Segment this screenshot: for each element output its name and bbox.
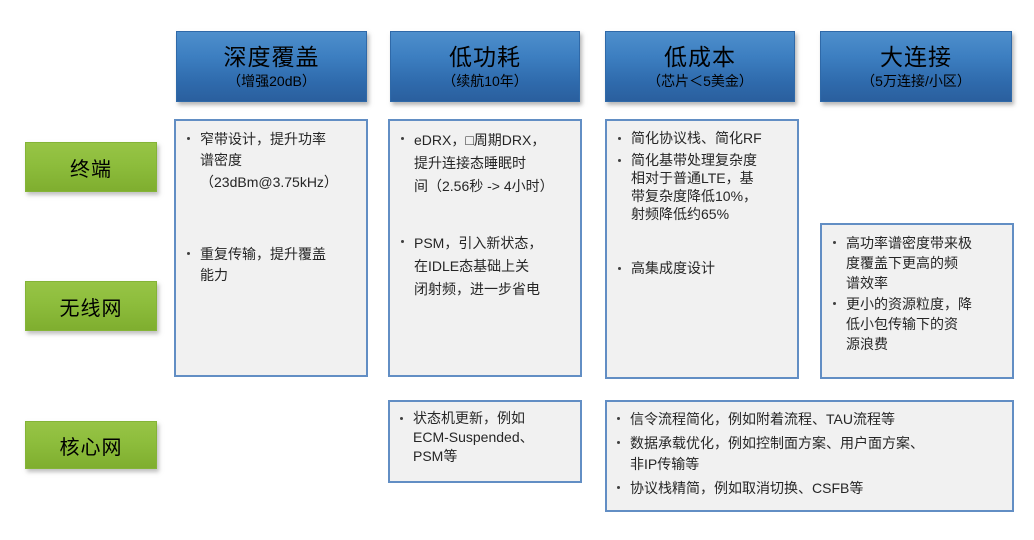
header-subtitle: （5万连接/小区） — [861, 72, 971, 90]
bullet-line: 提升连接态睡眠时 — [414, 155, 526, 171]
row-label-text: 终端 — [70, 153, 112, 182]
slide-canvas: 深度覆盖 （增强20dB） 低功耗 （续航10年） 低成本 （芯片＜5美金） 大… — [0, 0, 1034, 540]
list-item: 窄带设计，提升功率 谱密度 — [182, 129, 360, 171]
bullet-line: 更小的资源粒度，降 — [846, 296, 972, 312]
spacer — [613, 249, 791, 259]
content-box-deep-coverage: 窄带设计，提升功率 谱密度 （23dBm@3.75kHz） 重复传输，提升覆盖 … — [174, 119, 368, 377]
bullet-list: PSM，引入新状态， 在IDLE态基础上关 闭射频，进一步省电 — [396, 232, 574, 301]
header-card-massive-connection[interactable]: 大连接 （5万连接/小区） — [820, 31, 1012, 102]
bullet-line: 相对于普通LTE，基 — [631, 170, 754, 186]
header-title: 大连接 — [880, 44, 952, 71]
bullet-line: 高集成度设计 — [631, 260, 715, 276]
spacer — [182, 192, 360, 222]
spacer — [396, 222, 574, 232]
bullet-line: 重复传输，提升覆盖 — [200, 246, 326, 262]
list-item: 数据承载优化，例如控制面方案、用户面方案、 非IP传输等 — [612, 433, 1007, 475]
list-item: 简化基带处理复杂度 相对于普通LTE，基 带复杂度降低10%， 射频降低约65% — [613, 151, 791, 223]
bullet-line: 简化基带处理复杂度 — [631, 152, 757, 168]
list-item: 状态机更新，例如 ECM-Suspended、 PSM等 — [395, 409, 575, 466]
bullet-line: eDRX，□周期DRX， — [414, 132, 545, 148]
row-label-core-network[interactable]: 核心网 — [25, 421, 157, 469]
header-card-low-power[interactable]: 低功耗 （续航10年） — [390, 31, 580, 102]
spacer — [396, 200, 574, 222]
bullet-list: 窄带设计，提升功率 谱密度 — [182, 129, 360, 171]
bullet-line: 度覆盖下更高的频 — [846, 255, 958, 271]
bullet-list: 简化协议栈、简化RF 简化基带处理复杂度 相对于普通LTE，基 带复杂度降低10… — [613, 129, 791, 223]
bullet-line: 能力 — [200, 267, 228, 283]
bullet-line: 间（2.56秒 -> 4小时） — [414, 178, 554, 194]
list-item: 高集成度设计 — [613, 259, 791, 277]
list-item: 信令流程简化，例如附着流程、TAU流程等 — [612, 409, 1007, 430]
list-item: 更小的资源粒度，降 低小包传输下的资 源浪费 — [828, 294, 1006, 354]
header-title: 低成本 — [664, 44, 736, 71]
row-label-terminal[interactable]: 终端 — [25, 142, 157, 192]
header-card-low-cost[interactable]: 低成本 （芯片＜5美金） — [605, 31, 795, 102]
bullet-line: 低小包传输下的资 — [846, 316, 958, 332]
bullet-line: PSM，引入新状态， — [414, 235, 542, 251]
list-item: 高功率谱密度带来极 度覆盖下更高的频 谱效率 — [828, 233, 1006, 293]
bullet-line: 信令流程简化，例如附着流程、TAU流程等 — [630, 411, 895, 427]
list-item: 协议栈精简，例如取消切换、CSFB等 — [612, 478, 1007, 499]
header-card-deep-coverage[interactable]: 深度覆盖 （增强20dB） — [176, 31, 367, 102]
row-label-text: 无线网 — [60, 292, 123, 321]
bullet-line: 窄带设计，提升功率 — [200, 131, 326, 147]
header-subtitle: （芯片＜5美金） — [647, 72, 753, 90]
header-subtitle: （增强20dB） — [227, 72, 316, 90]
list-item: PSM，引入新状态， 在IDLE态基础上关 闭射频，进一步省电 — [396, 232, 574, 301]
bullet-line: 在IDLE态基础上关 — [414, 258, 529, 274]
bullet-line: 非IP传输等 — [630, 456, 699, 472]
bullet-line: 闭射频，进一步省电 — [414, 281, 540, 297]
bullet-list: 信令流程简化，例如附着流程、TAU流程等 数据承载优化，例如控制面方案、用户面方… — [612, 409, 1007, 499]
list-item: 重复传输，提升覆盖 能力 — [182, 244, 360, 286]
bullet-line: 协议栈精简，例如取消切换、CSFB等 — [630, 480, 863, 496]
bullet-line: 数据承载优化，例如控制面方案、用户面方案、 — [630, 435, 924, 451]
row-label-radio-network[interactable]: 无线网 — [25, 281, 157, 331]
list-item: 简化协议栈、简化RF — [613, 129, 791, 147]
bullet-line: PSM等 — [413, 448, 457, 464]
bullet-list: 状态机更新，例如 ECM-Suspended、 PSM等 — [395, 409, 575, 466]
content-box-low-cost: 简化协议栈、简化RF 简化基带处理复杂度 相对于普通LTE，基 带复杂度降低10… — [605, 119, 799, 379]
content-box-core-network: 信令流程简化，例如附着流程、TAU流程等 数据承载优化，例如控制面方案、用户面方… — [605, 400, 1014, 512]
bullet-list: 高功率谱密度带来极 度覆盖下更高的频 谱效率 更小的资源粒度，降 低小包传输下的… — [828, 233, 1006, 354]
bullet-list: 高集成度设计 — [613, 259, 791, 277]
bullet-line: 状态机更新，例如 — [413, 410, 525, 426]
list-item: eDRX，□周期DRX， 提升连接态睡眠时 间（2.56秒 -> 4小时） — [396, 129, 574, 198]
bullet-line: 带复杂度降低10%， — [631, 188, 757, 204]
header-title: 深度覆盖 — [224, 44, 320, 71]
coverage-metric: （23dBm@3.75kHz） — [182, 173, 360, 192]
spacer — [182, 222, 360, 244]
bullet-line: 高功率谱密度带来极 — [846, 235, 972, 251]
bullet-line: 射频降低约65% — [631, 206, 729, 222]
content-box-massive-connection: 高功率谱密度带来极 度覆盖下更高的频 谱效率 更小的资源粒度，降 低小包传输下的… — [820, 223, 1014, 379]
bullet-line: 源浪费 — [846, 336, 888, 352]
header-subtitle: （续航10年） — [442, 72, 528, 90]
row-label-text: 核心网 — [60, 431, 123, 460]
content-box-low-power: eDRX，□周期DRX， 提升连接态睡眠时 间（2.56秒 -> 4小时） PS… — [388, 119, 582, 377]
bullet-list: eDRX，□周期DRX， 提升连接态睡眠时 间（2.56秒 -> 4小时） — [396, 129, 574, 198]
header-title: 低功耗 — [449, 44, 521, 71]
bullet-line: 谱效率 — [846, 275, 888, 291]
bullet-line: 谱密度 — [200, 152, 242, 168]
bullet-list: 重复传输，提升覆盖 能力 — [182, 244, 360, 286]
bullet-line: ECM-Suspended、 — [413, 429, 534, 445]
spacer — [613, 227, 791, 249]
content-box-core-low-power: 状态机更新，例如 ECM-Suspended、 PSM等 — [388, 400, 582, 483]
bullet-line: 简化协议栈、简化RF — [631, 130, 762, 146]
